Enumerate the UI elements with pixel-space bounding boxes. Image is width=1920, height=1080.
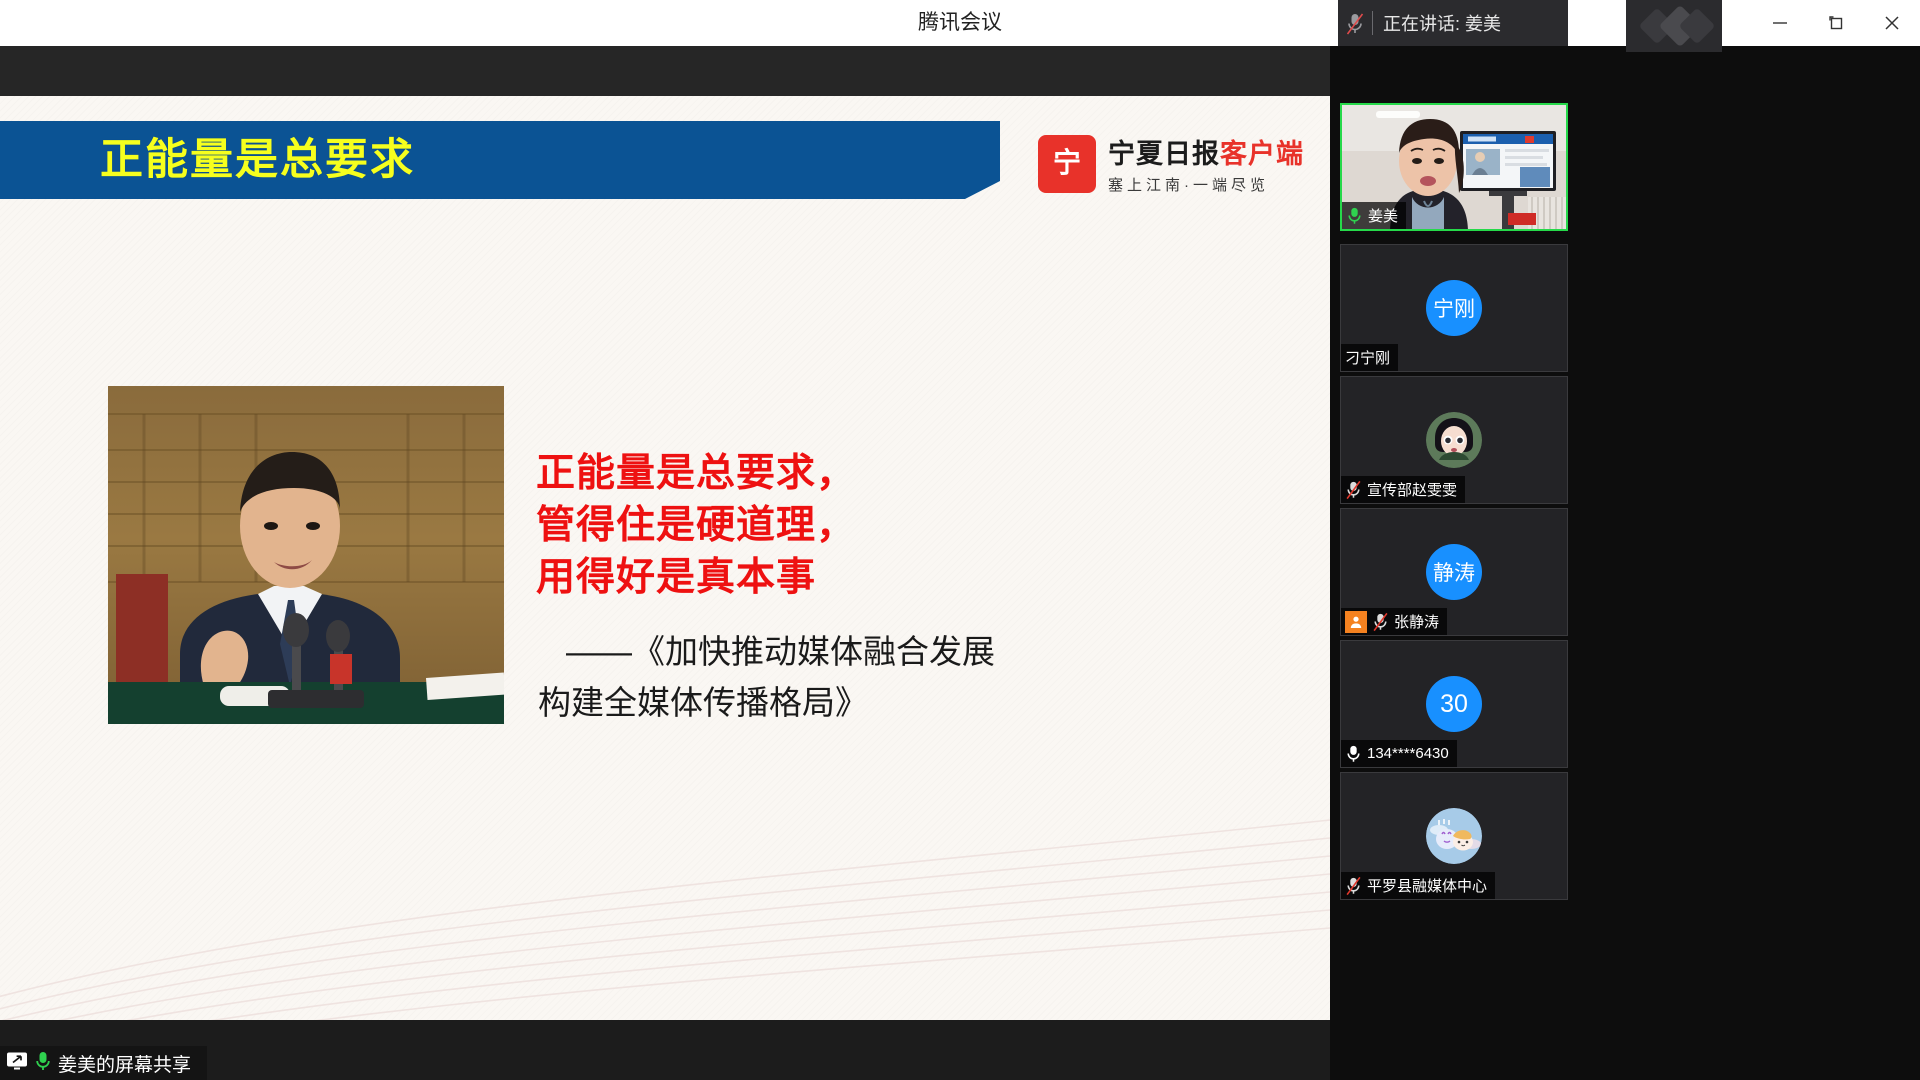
screen-share-status-bar: 姜美的屏幕共享: [0, 1046, 207, 1080]
divider: [1372, 11, 1373, 35]
participant-tile[interactable]: 宁刚刁宁刚: [1340, 244, 1568, 372]
mic-on-icon: [1345, 744, 1362, 764]
mic-muted-icon: [1372, 612, 1389, 632]
slide-photo: [108, 386, 504, 724]
mic-muted-icon: [1345, 876, 1362, 896]
slide-quote: 正能量是总要求， 管得住是硬道理， 用得好是真本事: [536, 448, 856, 604]
quote-line-2: 管得住是硬道理，: [536, 500, 856, 552]
host-badge-icon: [1345, 611, 1367, 633]
participant-avatar: 静涛: [1426, 544, 1482, 600]
participant-name: 134****6430: [1367, 745, 1449, 762]
participant-name-bar: 宣传部赵雯雯: [1341, 476, 1465, 503]
quote-line-1: 正能量是总要求，: [536, 448, 856, 500]
participant-tile[interactable]: 宣传部赵雯雯: [1340, 376, 1568, 504]
speaking-label: 正在讲话: 姜美: [1383, 10, 1501, 36]
slide-citation: ——《加快推动媒体融合发展 构建全媒体传播格局》: [538, 626, 998, 728]
participant-name: 姜美: [1368, 205, 1398, 226]
slide-decoration: [0, 760, 1330, 1020]
tencent-meeting-window: 腾讯会议 正在讲话: 姜美: [0, 0, 1920, 1080]
participant-tile[interactable]: 姜美: [1340, 103, 1568, 231]
logo-wordmark-black: 宁夏日报: [1108, 139, 1220, 169]
logo-tagline: 塞上江南·一端尽览: [1108, 174, 1304, 195]
minimize-button[interactable]: [1752, 0, 1808, 46]
screen-share-label: 姜美的屏幕共享: [58, 1050, 191, 1077]
logo-wordmark: 宁夏日报客户端: [1108, 132, 1304, 171]
mic-on-icon: [34, 1050, 52, 1077]
mic-on-icon: [1346, 206, 1363, 226]
participant-tile[interactable]: 静涛 张静涛: [1340, 508, 1568, 636]
slide-title: 正能量是总要求: [100, 121, 415, 199]
logo-wordmark-red: 客户端: [1220, 139, 1304, 169]
mic-muted-icon: [1338, 0, 1372, 46]
screen-share-icon: [6, 1051, 28, 1076]
logo-mark-glyph: 宁: [1053, 149, 1081, 177]
participant-avatar: 宁刚: [1426, 280, 1482, 336]
participant-tile[interactable]: 平罗县融媒体中心: [1340, 772, 1568, 900]
maximize-button[interactable]: [1808, 0, 1864, 46]
participant-name-bar: 姜美: [1342, 202, 1406, 229]
quote-line-3: 用得好是真本事: [536, 552, 856, 604]
participant-name-bar: 134****6430: [1341, 740, 1457, 767]
participant-name: 平罗县融媒体中心: [1367, 875, 1487, 896]
close-button[interactable]: [1864, 0, 1920, 46]
participant-rail[interactable]: 姜美宁刚刁宁刚 宣传部赵雯雯静涛 张静涛30 134****6430: [1330, 46, 1920, 1080]
shared-screen-slide: 正能量是总要求 宁 宁夏日报客户端 塞上江南·一端尽览: [0, 96, 1330, 1020]
active-speaker-indicator: 正在讲话: 姜美: [1338, 0, 1568, 46]
tencent-meeting-logo-icon: [1626, 0, 1722, 52]
participant-avatar: [1426, 412, 1482, 468]
participant-avatar: 30: [1426, 676, 1482, 732]
newspaper-logo: 宁 宁夏日报客户端 塞上江南·一端尽览: [1038, 132, 1304, 195]
participant-name-bar: 平罗县融媒体中心: [1341, 872, 1495, 899]
participant-name: 刁宁刚: [1345, 347, 1390, 368]
logo-mark-icon: 宁: [1038, 135, 1096, 193]
participant-avatar: [1426, 808, 1482, 864]
participant-name-bar: 刁宁刚: [1341, 344, 1398, 371]
mic-muted-icon: [1345, 480, 1362, 500]
participant-name: 宣传部赵雯雯: [1367, 479, 1457, 500]
participant-name-bar: 张静涛: [1341, 608, 1447, 635]
toolbar-band: [0, 46, 1330, 96]
participant-tile[interactable]: 30 134****6430: [1340, 640, 1568, 768]
participant-name: 张静涛: [1394, 611, 1439, 632]
